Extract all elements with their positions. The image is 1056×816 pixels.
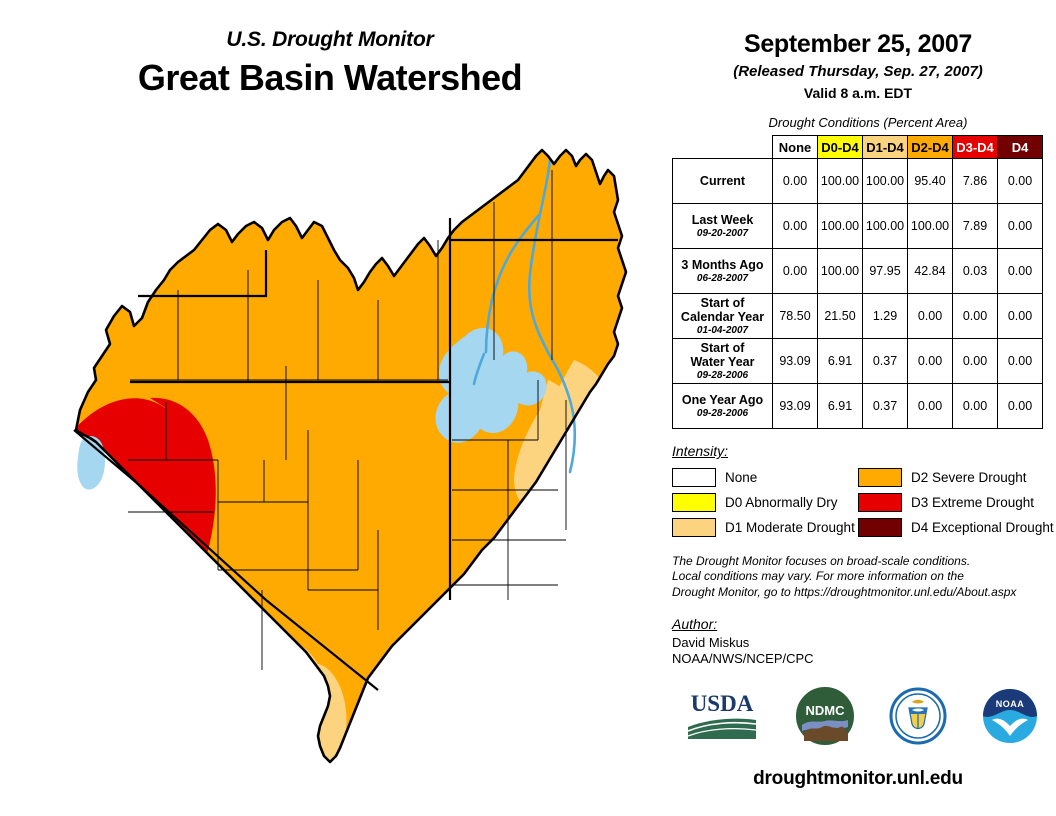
legend-swatch [858, 468, 902, 487]
legend-grid: NoneD2 Severe DroughtD0 Abnormally DryD3… [672, 465, 1046, 540]
table-header-row: None D0-D4 D1-D4 D2-D4 D3-D4 D4 [673, 136, 1043, 159]
row-label: Start ofCalendar Year01-04-2007 [673, 294, 773, 339]
col-header-none: None [773, 136, 818, 159]
legend-label: None [725, 470, 757, 485]
released-date: (Released Thursday, Sep. 27, 2007) [660, 63, 1056, 80]
table-cell: 7.89 [953, 204, 998, 249]
table-cell: 0.00 [998, 384, 1043, 429]
table-cell: 0.00 [998, 339, 1043, 384]
legend-swatch [858, 518, 902, 537]
row-label: 3 Months Ago06-28-2007 [673, 249, 773, 294]
table-cell: 0.00 [773, 249, 818, 294]
legend-item: D0 Abnormally Dry [672, 493, 858, 512]
table-cell: 93.09 [773, 339, 818, 384]
table-cell: 0.00 [953, 294, 998, 339]
table-cell: 0.00 [998, 204, 1043, 249]
logo-row: USDA NDMC NOAA [666, 685, 1056, 747]
valid-date: September 25, 2007 [660, 30, 1056, 59]
table-cell: 0.00 [998, 294, 1043, 339]
disclaimer-line-2: Local conditions may vary. For more info… [672, 569, 1052, 584]
author-affiliation: NOAA/NWS/NCEP/CPC [672, 651, 1056, 667]
legend-item: D2 Severe Drought [858, 468, 1046, 487]
date-block: September 25, 2007 (Released Thursday, S… [660, 0, 1056, 101]
disclaimer-line-1: The Drought Monitor focuses on broad-sca… [672, 554, 1052, 569]
legend-label: D2 Severe Drought [911, 470, 1027, 485]
svg-text:NOAA: NOAA [996, 699, 1025, 709]
table-row: One Year Ago09-28-200693.096.910.370.000… [673, 384, 1043, 429]
table-cell: 0.00 [998, 159, 1043, 204]
table-row: 3 Months Ago06-28-20070.00100.0097.9542.… [673, 249, 1043, 294]
row-label: Current [673, 159, 773, 204]
usda-logo: USDA [682, 687, 762, 745]
legend-swatch [858, 493, 902, 512]
table-cell: 0.00 [953, 339, 998, 384]
table-cell: 0.00 [953, 384, 998, 429]
author-block: Author: David Miskus NOAA/NWS/NCEP/CPC [672, 616, 1056, 668]
legend-title: Intensity: [672, 443, 1046, 459]
disclaimer-line-3: Drought Monitor, go to https://droughtmo… [672, 585, 1052, 600]
drought-map[interactable] [18, 130, 658, 770]
table-caption: Drought Conditions (Percent Area) [680, 115, 1056, 130]
row-date: 06-28-2007 [675, 273, 770, 284]
legend-item: D1 Moderate Drought [672, 518, 858, 537]
legend-swatch [672, 493, 716, 512]
col-header-d4: D4 [998, 136, 1043, 159]
table-cell: 0.37 [863, 384, 908, 429]
table-cell: 42.84 [908, 249, 953, 294]
table-cell: 100.00 [863, 159, 908, 204]
table-cell: 21.50 [818, 294, 863, 339]
ndmc-logo: NDMC [794, 685, 856, 747]
col-header-d0d4: D0-D4 [818, 136, 863, 159]
valid-time: Valid 8 a.m. EDT [660, 85, 1056, 101]
row-label: Start ofWater Year09-28-2006 [673, 339, 773, 384]
legend-item: D4 Exceptional Drought [858, 518, 1046, 537]
table-corner-cell [673, 136, 773, 159]
table-cell: 1.29 [863, 294, 908, 339]
map-panel: U.S. Drought Monitor Great Basin Watersh… [0, 0, 660, 816]
row-date: 01-04-2007 [675, 325, 770, 336]
legend-label: D3 Extreme Drought [911, 495, 1034, 510]
table-cell: 93.09 [773, 384, 818, 429]
row-date: 09-28-2006 [675, 370, 770, 381]
table-cell: 6.91 [818, 384, 863, 429]
svg-text:NDMC: NDMC [806, 703, 846, 718]
legend-swatch [672, 518, 716, 537]
table-cell: 100.00 [908, 204, 953, 249]
row-date: 09-20-2007 [675, 228, 770, 239]
table-row: Start ofCalendar Year01-04-200778.5021.5… [673, 294, 1043, 339]
table-cell: 97.95 [863, 249, 908, 294]
page-title: Great Basin Watershed [0, 57, 660, 99]
table-cell: 100.00 [818, 204, 863, 249]
info-panel: September 25, 2007 (Released Thursday, S… [660, 0, 1056, 816]
table-cell: 100.00 [818, 159, 863, 204]
table-row: Current0.00100.00100.0095.407.860.00 [673, 159, 1043, 204]
table-row: Start ofWater Year09-28-200693.096.910.3… [673, 339, 1043, 384]
legend-label: D1 Moderate Drought [725, 520, 855, 535]
col-header-d1d4: D1-D4 [863, 136, 908, 159]
table-cell: 0.03 [953, 249, 998, 294]
table-cell: 0.00 [908, 294, 953, 339]
table-row: Last Week09-20-20070.00100.00100.00100.0… [673, 204, 1043, 249]
noaa-logo: NOAA [980, 686, 1040, 746]
table-cell: 100.00 [863, 204, 908, 249]
author-title: Author: [672, 616, 1056, 632]
legend-swatch [672, 468, 716, 487]
site-url[interactable]: droughtmonitor.unl.edu [660, 768, 1056, 790]
table-cell: 78.50 [773, 294, 818, 339]
author-name: David Miskus [672, 635, 1056, 651]
intensity-legend: Intensity: NoneD2 Severe DroughtD0 Abnor… [672, 443, 1046, 540]
table-body: Current0.00100.00100.0095.407.860.00Last… [673, 159, 1043, 429]
table-cell: 0.00 [773, 159, 818, 204]
legend-item: None [672, 468, 858, 487]
legend-item: D3 Extreme Drought [858, 493, 1046, 512]
table-cell: 6.91 [818, 339, 863, 384]
table-cell: 0.00 [998, 249, 1043, 294]
col-header-d2d4: D2-D4 [908, 136, 953, 159]
table-cell: 100.00 [818, 249, 863, 294]
row-label: One Year Ago09-28-2006 [673, 384, 773, 429]
table-cell: 0.00 [773, 204, 818, 249]
legend-label: D4 Exceptional Drought [911, 520, 1054, 535]
row-label: Last Week09-20-2007 [673, 204, 773, 249]
table-cell: 0.00 [908, 384, 953, 429]
program-title: U.S. Drought Monitor [0, 28, 660, 52]
table-cell: 7.86 [953, 159, 998, 204]
commerce-seal-logo [888, 686, 948, 746]
svg-text:USDA: USDA [691, 691, 754, 716]
table-cell: 0.37 [863, 339, 908, 384]
row-date: 09-28-2006 [675, 408, 770, 419]
disclaimer-text: The Drought Monitor focuses on broad-sca… [672, 554, 1052, 600]
col-header-d3d4: D3-D4 [953, 136, 998, 159]
table-cell: 95.40 [908, 159, 953, 204]
title-block: U.S. Drought Monitor Great Basin Watersh… [0, 28, 660, 99]
drought-conditions-table: None D0-D4 D1-D4 D2-D4 D3-D4 D4 Current0… [672, 135, 1043, 429]
legend-label: D0 Abnormally Dry [725, 495, 838, 510]
table-cell: 0.00 [908, 339, 953, 384]
